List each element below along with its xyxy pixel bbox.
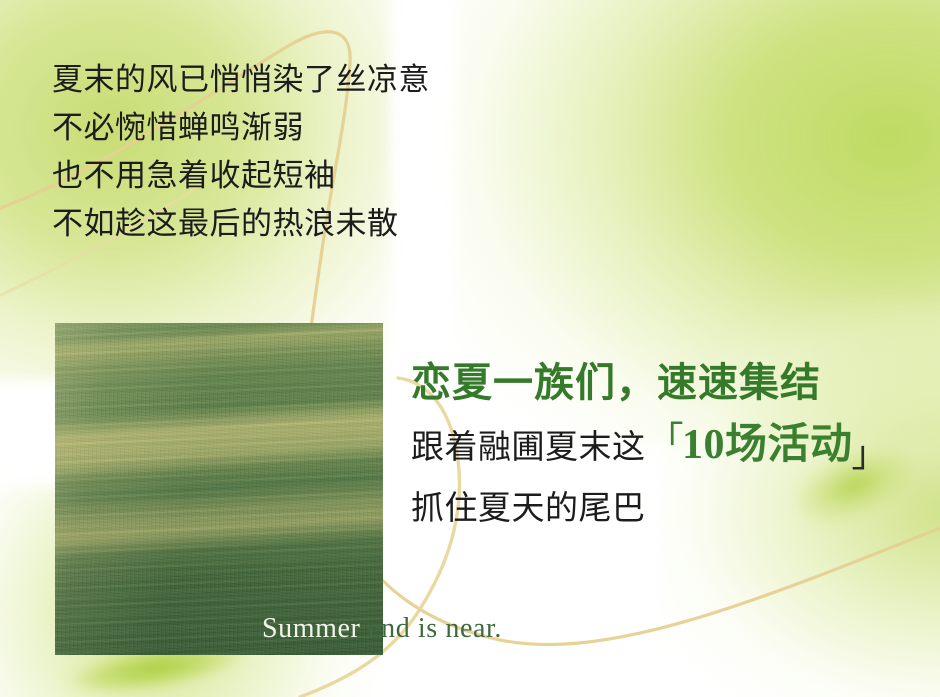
poem-line-1: 夏末的风已悄悄染了丝凉意 xyxy=(52,56,572,104)
headline-block: 恋夏一族们，速速集结 跟着融圃夏末这「10场活动」 抓住夏天的尾巴 xyxy=(411,358,931,532)
headline-sub-prefix: 跟着融圃夏末这 xyxy=(411,430,646,466)
grass-field-photo xyxy=(55,323,383,655)
photo-speckle-overlay xyxy=(55,323,383,655)
photo-caption: Summer end is near. xyxy=(262,612,502,646)
poem-block: 夏末的风已悄悄染了丝凉意 不必惋惜蝉鸣渐弱 也不用急着收起短袖 不如趁这最后的热… xyxy=(52,56,572,248)
poem-line-2: 不必惋惜蝉鸣渐弱 xyxy=(52,104,572,152)
headline-main: 恋夏一族们，速速集结 xyxy=(411,358,931,408)
caption-on-photo: Summer xyxy=(262,613,360,644)
poem-line-4: 不如趁这最后的热浪未散 xyxy=(52,200,572,248)
caption-off-photo: end is near. xyxy=(360,613,502,644)
poster-canvas: 夏末的风已悄悄染了丝凉意 不必惋惜蝉鸣渐弱 也不用急着收起短袖 不如趁这最后的热… xyxy=(0,0,940,697)
bracket-open: 「 xyxy=(648,420,685,460)
bracket-close: 」 xyxy=(852,434,889,474)
headline-tail: 抓住夏天的尾巴 xyxy=(411,486,931,532)
poem-line-3: 也不用急着收起短袖 xyxy=(52,152,572,200)
headline-sub: 跟着融圃夏末这「10场活动」 xyxy=(411,414,931,480)
headline-emphasis: 10场活动 xyxy=(682,422,853,468)
